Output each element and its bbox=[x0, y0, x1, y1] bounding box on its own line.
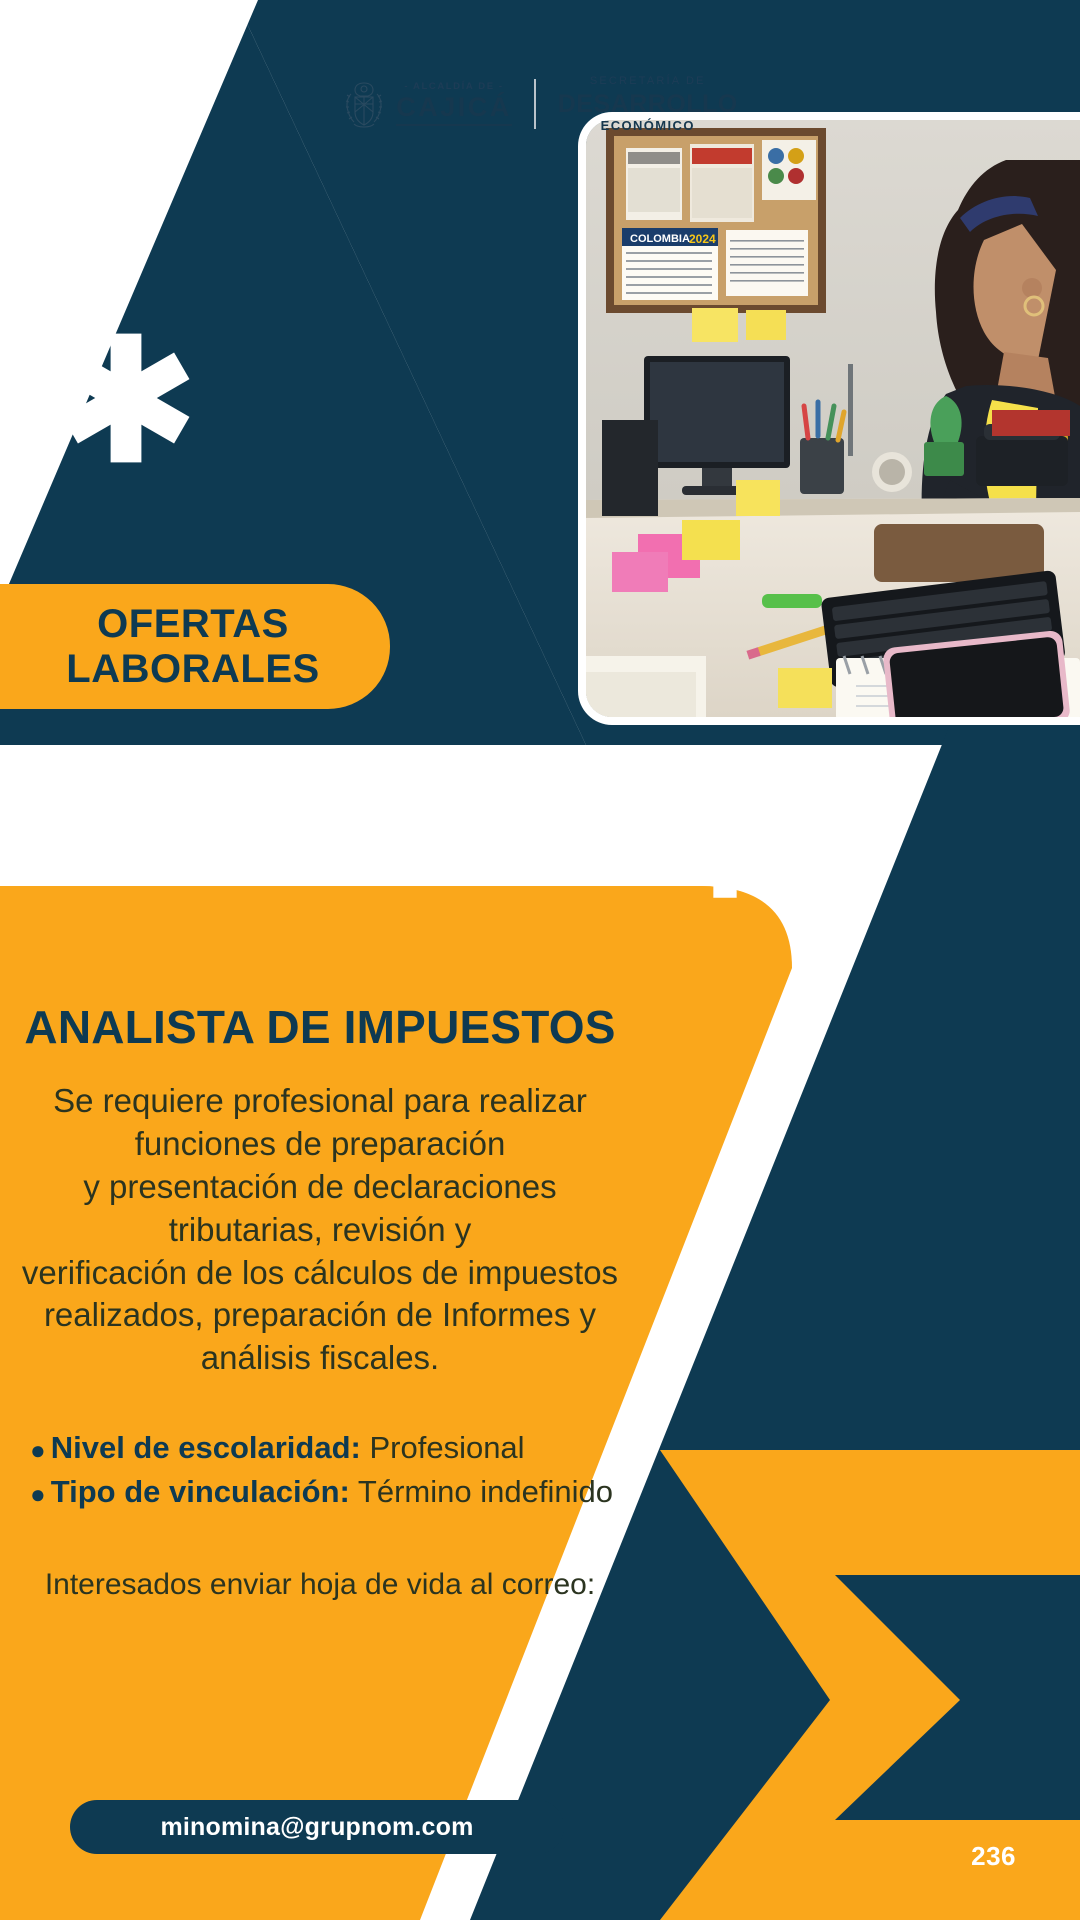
alcaldia-eyebrow: - ALCALDÍA DE - bbox=[404, 82, 503, 92]
header-logos: - ALCALDÍA DE - CAJICÁ SECRETARÍA DE DES… bbox=[0, 76, 1080, 132]
secretaria-desarrollo-logo: SECRETARÍA DE DESARROLLO ECONÓMICO bbox=[536, 76, 738, 132]
cajica-underline bbox=[396, 124, 512, 126]
bullet-value: Término indefinido bbox=[358, 1474, 613, 1509]
bullet-label: Tipo de vinculación: bbox=[51, 1474, 350, 1509]
bullet-dot-icon: ● bbox=[30, 1479, 46, 1509]
bullet-label: Nivel de escolaridad: bbox=[51, 1430, 361, 1465]
asterisk-icon-top bbox=[56, 328, 196, 468]
cajica-wordmark: - ALCALDÍA DE - CAJICÁ bbox=[396, 82, 512, 127]
bullet-value: Profesional bbox=[369, 1430, 524, 1465]
alcaldia-cajica-logo: - ALCALDÍA DE - CAJICÁ bbox=[342, 78, 534, 130]
cajica-name: CAJICÁ bbox=[396, 94, 512, 121]
badge-line-1: OFERTAS bbox=[97, 602, 289, 647]
list-item: ●Tipo de vinculación: Término indefinido bbox=[30, 1470, 640, 1514]
badge-line-2: LABORALES bbox=[66, 647, 319, 692]
email-address[interactable]: minomina@grupnom.com bbox=[160, 1813, 473, 1842]
cta-text: Interesados enviar hoja de vida al corre… bbox=[0, 1568, 640, 1602]
office-photo: COLOMBIA 2024 bbox=[586, 120, 1080, 717]
economico-label: ECONÓMICO bbox=[601, 119, 695, 132]
requirements-list: ●Nivel de escolaridad: Profesional ●Tipo… bbox=[0, 1426, 640, 1514]
bullet-dot-icon: ● bbox=[30, 1435, 46, 1465]
page-title: ANALISTA DE IMPUESTOS bbox=[0, 1000, 640, 1054]
svg-text:2024: 2024 bbox=[689, 232, 716, 246]
list-item: ●Nivel de escolaridad: Profesional bbox=[30, 1426, 640, 1470]
job-description: Se requiere profesional para realizar fu… bbox=[0, 1080, 640, 1380]
job-offer-poster: - ALCALDÍA DE - CAJICÁ SECRETARÍA DE DES… bbox=[0, 0, 1080, 1920]
job-details: ANALISTA DE IMPUESTOS Se requiere profes… bbox=[0, 1000, 640, 1602]
email-contact-pill[interactable]: minomina@grupnom.com bbox=[70, 1800, 564, 1854]
cajica-coat-of-arms-icon bbox=[342, 78, 386, 130]
svg-text:COLOMBIA: COLOMBIA bbox=[630, 233, 690, 245]
desarrollo-label: DESARROLLO bbox=[558, 92, 738, 117]
asterisk-icon-middle bbox=[672, 796, 778, 902]
ofertas-laborales-badge: OFERTAS LABORALES bbox=[0, 584, 390, 709]
page-number: 236 bbox=[971, 1841, 1016, 1872]
secretaria-label: SECRETARÍA DE bbox=[590, 76, 706, 87]
